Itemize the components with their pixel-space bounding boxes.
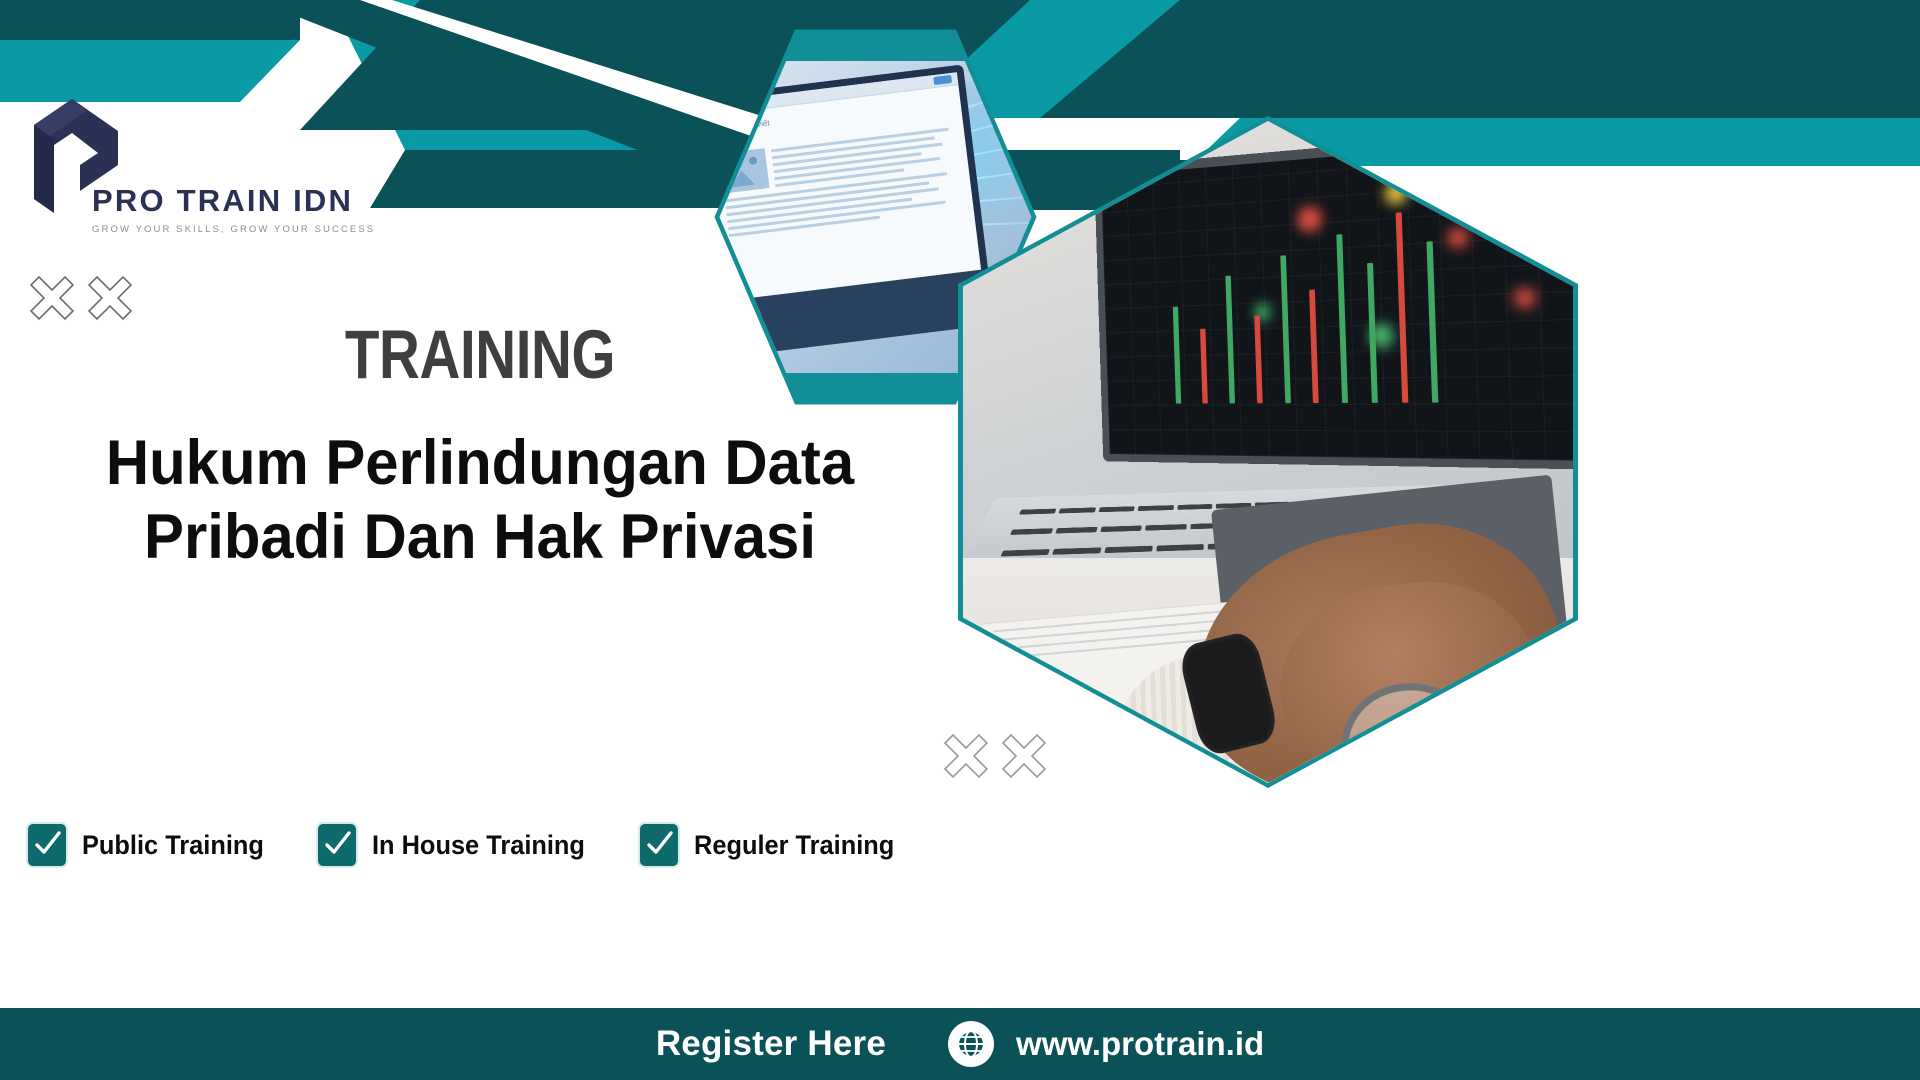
decor-x-marks-right [940, 730, 1050, 782]
brand-tagline: GROW YOUR SKILLS, GROW YOUR SUCCESS [92, 224, 375, 235]
x-outline-icon [998, 730, 1050, 782]
x-outline-icon [84, 272, 136, 324]
decor-band-dark-corner [0, 0, 300, 40]
training-option-label: Reguler Training [694, 830, 894, 861]
x-outline-icon [26, 272, 78, 324]
title-line-2: Pribadi Dan Hak Privasi [24, 501, 936, 575]
x-outline-icon [940, 730, 992, 782]
footer-bar: Register Here www.protrain.id [0, 1008, 1920, 1080]
checkbox-checked-icon[interactable] [638, 822, 680, 868]
hexagon-image-workspace [958, 116, 1578, 788]
brand-name: PRO TRAIN IDN [92, 183, 375, 219]
globe-icon [948, 1021, 994, 1067]
hexagon-photo-large [963, 121, 1573, 783]
eyebrow-training: TRAINING [86, 320, 873, 389]
training-poster: Tiêu đề bài viết Nội dung [0, 0, 1920, 1080]
register-here-cta[interactable]: Register Here [656, 1024, 886, 1064]
page-title: Hukum Perlindungan Data Pribadi Dan Hak … [24, 427, 936, 574]
checkbox-checked-icon[interactable] [26, 822, 68, 868]
brand-logo[interactable]: PRO TRAIN IDN GROW YOUR SKILLS, GROW YOU… [28, 95, 328, 245]
checkbox-checked-icon[interactable] [316, 822, 358, 868]
website-link[interactable]: www.protrain.id [948, 1021, 1264, 1067]
training-option-inhouse[interactable]: In House Training [316, 822, 599, 868]
training-option-label: In House Training [372, 830, 585, 861]
training-option-label: Public Training [82, 830, 264, 861]
headline-block: TRAINING Hukum Perlindungan Data Pribadi… [0, 320, 960, 574]
decor-band-bright-corner [0, 40, 300, 102]
website-url: www.protrain.id [1016, 1025, 1264, 1063]
training-option-reguler[interactable]: Reguler Training [638, 822, 907, 868]
title-line-1: Hukum Perlindungan Data [24, 427, 936, 501]
training-options-list: Public Training In House Training Regule… [26, 822, 907, 868]
decor-x-marks-left [26, 272, 136, 324]
training-option-public[interactable]: Public Training [26, 822, 276, 868]
